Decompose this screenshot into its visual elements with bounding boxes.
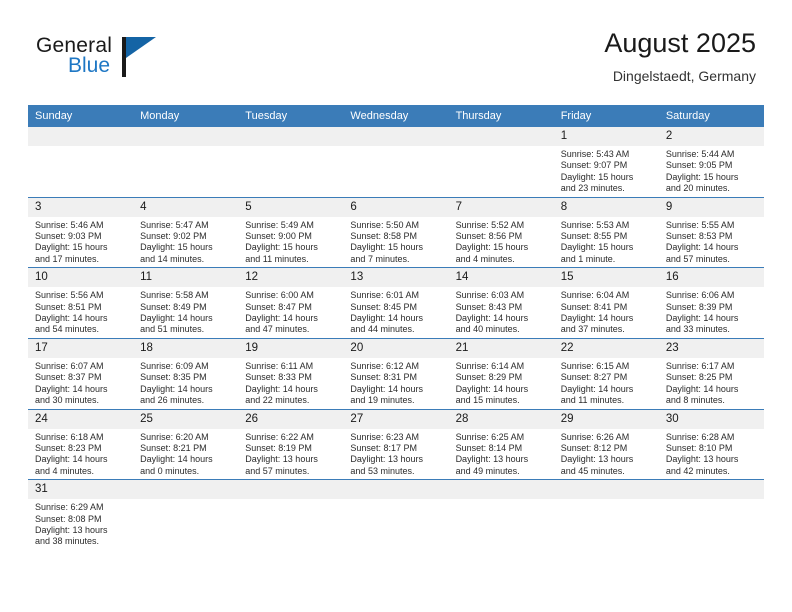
weekday-header-wednesday: Wednesday xyxy=(343,105,448,127)
day-sunset-line: Sunset: 8:12 PM xyxy=(561,443,655,454)
day-number: 5 xyxy=(238,198,343,217)
calendar-day-cell[interactable]: 28Sunrise: 6:25 AMSunset: 8:14 PMDayligh… xyxy=(449,409,554,480)
title-block: August 2025 Dingelstaedt, Germany xyxy=(604,26,756,86)
calendar-day-cell[interactable]: 30Sunrise: 6:28 AMSunset: 8:10 PMDayligh… xyxy=(659,409,764,480)
day-sun-info: Sunrise: 6:12 AMSunset: 8:31 PMDaylight:… xyxy=(343,358,448,409)
day-daylight-line: Daylight: 14 hours xyxy=(666,313,760,324)
day-daylight-line: Daylight: 14 hours xyxy=(140,313,234,324)
day-number: 19 xyxy=(238,339,343,358)
day-number: 7 xyxy=(449,198,554,217)
day-number xyxy=(133,127,238,146)
day-sunrise-line: Sunrise: 6:14 AM xyxy=(456,361,550,372)
day-daylight-line: Daylight: 14 hours xyxy=(456,384,550,395)
day-daylight-line: Daylight: 14 hours xyxy=(140,384,234,395)
day-daylight-line: Daylight: 14 hours xyxy=(350,384,444,395)
day-number: 30 xyxy=(659,410,764,429)
day-daylight-line: Daylight: 15 hours xyxy=(561,242,655,253)
calendar-week-row: 31Sunrise: 6:29 AMSunset: 8:08 PMDayligh… xyxy=(28,480,764,550)
brand-word-blue: Blue xyxy=(68,54,110,78)
day-daylight-line: Daylight: 15 hours xyxy=(245,242,339,253)
triangle-flag-icon xyxy=(126,37,156,58)
day-sunset-line: Sunset: 8:19 PM xyxy=(245,443,339,454)
day-sun-info: Sunrise: 6:07 AMSunset: 8:37 PMDaylight:… xyxy=(28,358,133,409)
day-daylight-line: and 42 minutes. xyxy=(666,466,760,477)
calendar-day-cell-empty xyxy=(449,127,554,197)
day-number: 12 xyxy=(238,268,343,287)
day-daylight-line: and 49 minutes. xyxy=(456,466,550,477)
day-sunset-line: Sunset: 8:17 PM xyxy=(350,443,444,454)
day-daylight-line: and 26 minutes. xyxy=(140,395,234,406)
day-sun-info: Sunrise: 6:28 AMSunset: 8:10 PMDaylight:… xyxy=(659,429,764,480)
day-number xyxy=(238,480,343,499)
day-daylight-line: and 47 minutes. xyxy=(245,324,339,335)
calendar-day-cell[interactable]: 4Sunrise: 5:47 AMSunset: 9:02 PMDaylight… xyxy=(133,197,238,268)
day-daylight-line: Daylight: 13 hours xyxy=(561,454,655,465)
day-sun-info: Sunrise: 6:29 AMSunset: 8:08 PMDaylight:… xyxy=(28,499,133,550)
weekday-header-monday: Monday xyxy=(133,105,238,127)
day-number: 20 xyxy=(343,339,448,358)
day-number: 25 xyxy=(133,410,238,429)
day-number: 31 xyxy=(28,480,133,499)
day-sunrise-line: Sunrise: 6:29 AM xyxy=(35,502,129,513)
general-blue-logo[interactable]: General Blue xyxy=(36,34,236,90)
day-sunset-line: Sunset: 8:39 PM xyxy=(666,302,760,313)
day-sunset-line: Sunset: 9:02 PM xyxy=(140,231,234,242)
calendar-day-cell[interactable]: 15Sunrise: 6:04 AMSunset: 8:41 PMDayligh… xyxy=(554,268,659,339)
day-daylight-line: and 11 minutes. xyxy=(245,254,339,265)
day-sunset-line: Sunset: 8:41 PM xyxy=(561,302,655,313)
day-daylight-line: Daylight: 14 hours xyxy=(245,384,339,395)
day-daylight-line: and 22 minutes. xyxy=(245,395,339,406)
day-daylight-line: and 45 minutes. xyxy=(561,466,655,477)
day-sunset-line: Sunset: 8:29 PM xyxy=(456,372,550,383)
day-sun-info: Sunrise: 5:47 AMSunset: 9:02 PMDaylight:… xyxy=(133,217,238,268)
day-sun-info xyxy=(659,499,764,504)
day-sunrise-line: Sunrise: 6:03 AM xyxy=(456,290,550,301)
day-daylight-line: and 30 minutes. xyxy=(35,395,129,406)
day-sunset-line: Sunset: 8:10 PM xyxy=(666,443,760,454)
day-daylight-line: and 20 minutes. xyxy=(666,183,760,194)
calendar-day-cell[interactable]: 23Sunrise: 6:17 AMSunset: 8:25 PMDayligh… xyxy=(659,338,764,409)
day-sun-info xyxy=(133,499,238,504)
day-number xyxy=(343,480,448,499)
day-sun-info xyxy=(238,146,343,151)
day-sunset-line: Sunset: 8:31 PM xyxy=(350,372,444,383)
day-number: 23 xyxy=(659,339,764,358)
day-sun-info xyxy=(449,499,554,504)
calendar-week-row: 10Sunrise: 5:56 AMSunset: 8:51 PMDayligh… xyxy=(28,268,764,339)
day-sunset-line: Sunset: 9:03 PM xyxy=(35,231,129,242)
calendar-day-cell[interactable]: 3Sunrise: 5:46 AMSunset: 9:03 PMDaylight… xyxy=(28,197,133,268)
calendar-body: 1Sunrise: 5:43 AMSunset: 9:07 PMDaylight… xyxy=(28,127,764,550)
day-sunrise-line: Sunrise: 5:46 AM xyxy=(35,220,129,231)
day-sunrise-line: Sunrise: 6:01 AM xyxy=(350,290,444,301)
day-daylight-line: and 38 minutes. xyxy=(35,536,129,547)
day-sun-info: Sunrise: 5:52 AMSunset: 8:56 PMDaylight:… xyxy=(449,217,554,268)
calendar-day-cell[interactable]: 13Sunrise: 6:01 AMSunset: 8:45 PMDayligh… xyxy=(343,268,448,339)
day-sunset-line: Sunset: 8:53 PM xyxy=(666,231,760,242)
day-sun-info: Sunrise: 6:22 AMSunset: 8:19 PMDaylight:… xyxy=(238,429,343,480)
weekday-header-sunday: Sunday xyxy=(28,105,133,127)
day-daylight-line: Daylight: 14 hours xyxy=(350,313,444,324)
calendar-day-cell-empty xyxy=(133,480,238,550)
day-sun-info: Sunrise: 5:43 AMSunset: 9:07 PMDaylight:… xyxy=(554,146,659,197)
day-number xyxy=(449,127,554,146)
day-sunrise-line: Sunrise: 6:09 AM xyxy=(140,361,234,372)
calendar-day-cell[interactable]: 14Sunrise: 6:03 AMSunset: 8:43 PMDayligh… xyxy=(449,268,554,339)
day-sun-info: Sunrise: 6:04 AMSunset: 8:41 PMDaylight:… xyxy=(554,287,659,338)
day-sunrise-line: Sunrise: 5:58 AM xyxy=(140,290,234,301)
day-sun-info: Sunrise: 6:14 AMSunset: 8:29 PMDaylight:… xyxy=(449,358,554,409)
calendar-day-cell[interactable]: 16Sunrise: 6:06 AMSunset: 8:39 PMDayligh… xyxy=(659,268,764,339)
day-sun-info: Sunrise: 5:53 AMSunset: 8:55 PMDaylight:… xyxy=(554,217,659,268)
day-daylight-line: Daylight: 15 hours xyxy=(456,242,550,253)
day-daylight-line: and 54 minutes. xyxy=(35,324,129,335)
day-sun-info: Sunrise: 6:09 AMSunset: 8:35 PMDaylight:… xyxy=(133,358,238,409)
day-daylight-line: Daylight: 14 hours xyxy=(35,384,129,395)
day-number: 16 xyxy=(659,268,764,287)
day-sun-info: Sunrise: 6:23 AMSunset: 8:17 PMDaylight:… xyxy=(343,429,448,480)
day-number xyxy=(28,127,133,146)
day-sunset-line: Sunset: 8:58 PM xyxy=(350,231,444,242)
day-daylight-line: Daylight: 14 hours xyxy=(35,454,129,465)
sunrise-sunset-calendar: Sunday Monday Tuesday Wednesday Thursday… xyxy=(28,105,764,550)
day-sunrise-line: Sunrise: 5:43 AM xyxy=(561,149,655,160)
day-number: 26 xyxy=(238,410,343,429)
day-daylight-line: Daylight: 15 hours xyxy=(666,172,760,183)
day-daylight-line: and 23 minutes. xyxy=(561,183,655,194)
calendar-day-cell[interactable]: 18Sunrise: 6:09 AMSunset: 8:35 PMDayligh… xyxy=(133,338,238,409)
day-sun-info xyxy=(449,146,554,151)
day-sun-info: Sunrise: 6:06 AMSunset: 8:39 PMDaylight:… xyxy=(659,287,764,338)
weekday-header-saturday: Saturday xyxy=(659,105,764,127)
day-daylight-line: and 57 minutes. xyxy=(666,254,760,265)
day-sun-info: Sunrise: 6:03 AMSunset: 8:43 PMDaylight:… xyxy=(449,287,554,338)
day-number: 10 xyxy=(28,268,133,287)
weekday-header-row: Sunday Monday Tuesday Wednesday Thursday… xyxy=(28,105,764,127)
day-daylight-line: and 11 minutes. xyxy=(561,395,655,406)
calendar-week-row: 17Sunrise: 6:07 AMSunset: 8:37 PMDayligh… xyxy=(28,338,764,409)
day-sunrise-line: Sunrise: 6:04 AM xyxy=(561,290,655,301)
day-daylight-line: Daylight: 15 hours xyxy=(350,242,444,253)
day-sun-info: Sunrise: 5:55 AMSunset: 8:53 PMDaylight:… xyxy=(659,217,764,268)
calendar-day-cell-empty xyxy=(238,127,343,197)
calendar-day-cell[interactable]: 25Sunrise: 6:20 AMSunset: 8:21 PMDayligh… xyxy=(133,409,238,480)
day-number: 2 xyxy=(659,127,764,146)
calendar-day-cell-empty xyxy=(449,480,554,550)
day-sun-info: Sunrise: 6:15 AMSunset: 8:27 PMDaylight:… xyxy=(554,358,659,409)
calendar-day-cell[interactable]: 21Sunrise: 6:14 AMSunset: 8:29 PMDayligh… xyxy=(449,338,554,409)
day-daylight-line: Daylight: 14 hours xyxy=(140,454,234,465)
day-daylight-line: and 7 minutes. xyxy=(350,254,444,265)
page-header: General Blue August 2025 Dingelstaedt, G… xyxy=(28,26,764,96)
day-sun-info xyxy=(343,146,448,151)
day-sun-info xyxy=(554,499,659,504)
calendar-day-cell[interactable]: 5Sunrise: 5:49 AMSunset: 9:00 PMDaylight… xyxy=(238,197,343,268)
day-daylight-line: and 1 minute. xyxy=(561,254,655,265)
calendar-day-cell[interactable]: 20Sunrise: 6:12 AMSunset: 8:31 PMDayligh… xyxy=(343,338,448,409)
calendar-week-row: 3Sunrise: 5:46 AMSunset: 9:03 PMDaylight… xyxy=(28,197,764,268)
day-daylight-line: Daylight: 14 hours xyxy=(35,313,129,324)
day-daylight-line: Daylight: 13 hours xyxy=(456,454,550,465)
day-sun-info: Sunrise: 5:50 AMSunset: 8:58 PMDaylight:… xyxy=(343,217,448,268)
day-daylight-line: and 19 minutes. xyxy=(350,395,444,406)
day-daylight-line: and 14 minutes. xyxy=(140,254,234,265)
day-sun-info: Sunrise: 6:00 AMSunset: 8:47 PMDaylight:… xyxy=(238,287,343,338)
day-number: 18 xyxy=(133,339,238,358)
day-daylight-line: and 33 minutes. xyxy=(666,324,760,335)
day-sun-info: Sunrise: 6:18 AMSunset: 8:23 PMDaylight:… xyxy=(28,429,133,480)
calendar-day-cell[interactable]: 8Sunrise: 5:53 AMSunset: 8:55 PMDaylight… xyxy=(554,197,659,268)
day-sun-info: Sunrise: 5:56 AMSunset: 8:51 PMDaylight:… xyxy=(28,287,133,338)
day-sunrise-line: Sunrise: 6:20 AM xyxy=(140,432,234,443)
day-daylight-line: and 44 minutes. xyxy=(350,324,444,335)
page-title: August 2025 xyxy=(604,26,756,60)
day-sunrise-line: Sunrise: 6:11 AM xyxy=(245,361,339,372)
day-sunset-line: Sunset: 8:55 PM xyxy=(561,231,655,242)
day-number xyxy=(343,127,448,146)
calendar-day-cell[interactable]: 1Sunrise: 5:43 AMSunset: 9:07 PMDaylight… xyxy=(554,127,659,197)
day-number: 28 xyxy=(449,410,554,429)
day-daylight-line: and 57 minutes. xyxy=(245,466,339,477)
day-number: 27 xyxy=(343,410,448,429)
weekday-header-tuesday: Tuesday xyxy=(238,105,343,127)
day-daylight-line: Daylight: 14 hours xyxy=(666,384,760,395)
calendar-day-cell[interactable]: 19Sunrise: 6:11 AMSunset: 8:33 PMDayligh… xyxy=(238,338,343,409)
day-number xyxy=(554,480,659,499)
day-daylight-line: Daylight: 14 hours xyxy=(245,313,339,324)
day-sunrise-line: Sunrise: 5:44 AM xyxy=(666,149,760,160)
day-sunrise-line: Sunrise: 6:26 AM xyxy=(561,432,655,443)
day-number: 29 xyxy=(554,410,659,429)
day-number: 24 xyxy=(28,410,133,429)
calendar-day-cell-empty xyxy=(28,127,133,197)
day-number: 1 xyxy=(554,127,659,146)
day-sun-info: Sunrise: 6:26 AMSunset: 8:12 PMDaylight:… xyxy=(554,429,659,480)
day-sun-info: Sunrise: 6:25 AMSunset: 8:14 PMDaylight:… xyxy=(449,429,554,480)
day-sunset-line: Sunset: 8:51 PM xyxy=(35,302,129,313)
calendar-day-cell[interactable]: 17Sunrise: 6:07 AMSunset: 8:37 PMDayligh… xyxy=(28,338,133,409)
day-number: 21 xyxy=(449,339,554,358)
day-sunset-line: Sunset: 8:49 PM xyxy=(140,302,234,313)
calendar-page: General Blue August 2025 Dingelstaedt, G… xyxy=(0,0,792,612)
day-sunset-line: Sunset: 8:45 PM xyxy=(350,302,444,313)
day-sun-info xyxy=(28,146,133,151)
calendar-week-row: 24Sunrise: 6:18 AMSunset: 8:23 PMDayligh… xyxy=(28,409,764,480)
day-sunrise-line: Sunrise: 5:49 AM xyxy=(245,220,339,231)
day-sunset-line: Sunset: 8:23 PM xyxy=(35,443,129,454)
weekday-header-friday: Friday xyxy=(554,105,659,127)
calendar-day-cell[interactable]: 31Sunrise: 6:29 AMSunset: 8:08 PMDayligh… xyxy=(28,480,133,550)
day-number xyxy=(659,480,764,499)
calendar-day-cell[interactable]: 27Sunrise: 6:23 AMSunset: 8:17 PMDayligh… xyxy=(343,409,448,480)
day-daylight-line: and 4 minutes. xyxy=(35,466,129,477)
calendar-day-cell[interactable]: 6Sunrise: 5:50 AMSunset: 8:58 PMDaylight… xyxy=(343,197,448,268)
day-daylight-line: Daylight: 13 hours xyxy=(666,454,760,465)
day-sun-info: Sunrise: 5:46 AMSunset: 9:03 PMDaylight:… xyxy=(28,217,133,268)
calendar-day-cell-empty xyxy=(343,480,448,550)
day-sun-info xyxy=(238,499,343,504)
day-sunrise-line: Sunrise: 6:00 AM xyxy=(245,290,339,301)
day-number: 14 xyxy=(449,268,554,287)
day-number: 8 xyxy=(554,198,659,217)
day-sunset-line: Sunset: 8:27 PM xyxy=(561,372,655,383)
calendar-day-cell-empty xyxy=(659,480,764,550)
day-sun-info: Sunrise: 6:11 AMSunset: 8:33 PMDaylight:… xyxy=(238,358,343,409)
day-number: 17 xyxy=(28,339,133,358)
day-daylight-line: and 37 minutes. xyxy=(561,324,655,335)
day-sunset-line: Sunset: 8:47 PM xyxy=(245,302,339,313)
calendar-day-cell-empty xyxy=(343,127,448,197)
day-sunrise-line: Sunrise: 5:50 AM xyxy=(350,220,444,231)
day-sun-info xyxy=(343,499,448,504)
calendar-day-cell[interactable]: 10Sunrise: 5:56 AMSunset: 8:51 PMDayligh… xyxy=(28,268,133,339)
day-daylight-line: Daylight: 13 hours xyxy=(35,525,129,536)
day-daylight-line: and 40 minutes. xyxy=(456,324,550,335)
location-subtitle: Dingelstaedt, Germany xyxy=(604,66,756,86)
day-daylight-line: Daylight: 14 hours xyxy=(666,242,760,253)
weekday-header-thursday: Thursday xyxy=(449,105,554,127)
day-daylight-line: Daylight: 14 hours xyxy=(561,313,655,324)
day-sunset-line: Sunset: 8:21 PM xyxy=(140,443,234,454)
day-sunset-line: Sunset: 8:33 PM xyxy=(245,372,339,383)
day-sun-info: Sunrise: 6:20 AMSunset: 8:21 PMDaylight:… xyxy=(133,429,238,480)
day-number: 13 xyxy=(343,268,448,287)
day-sunset-line: Sunset: 9:05 PM xyxy=(666,160,760,171)
day-sunset-line: Sunset: 8:25 PM xyxy=(666,372,760,383)
day-number: 11 xyxy=(133,268,238,287)
day-sunset-line: Sunset: 8:37 PM xyxy=(35,372,129,383)
day-sunset-line: Sunset: 8:35 PM xyxy=(140,372,234,383)
calendar-day-cell-empty xyxy=(133,127,238,197)
calendar-day-cell[interactable]: 24Sunrise: 6:18 AMSunset: 8:23 PMDayligh… xyxy=(28,409,133,480)
day-daylight-line: and 15 minutes. xyxy=(456,395,550,406)
day-sunrise-line: Sunrise: 6:18 AM xyxy=(35,432,129,443)
day-daylight-line: Daylight: 14 hours xyxy=(456,313,550,324)
day-sunset-line: Sunset: 8:08 PM xyxy=(35,514,129,525)
calendar-day-cell[interactable]: 11Sunrise: 5:58 AMSunset: 8:49 PMDayligh… xyxy=(133,268,238,339)
day-daylight-line: and 8 minutes. xyxy=(666,395,760,406)
day-sunset-line: Sunset: 8:56 PM xyxy=(456,231,550,242)
calendar-day-cell-empty xyxy=(238,480,343,550)
day-sunset-line: Sunset: 9:07 PM xyxy=(561,160,655,171)
day-sunrise-line: Sunrise: 5:55 AM xyxy=(666,220,760,231)
day-number: 4 xyxy=(133,198,238,217)
calendar-day-cell[interactable]: 7Sunrise: 5:52 AMSunset: 8:56 PMDaylight… xyxy=(449,197,554,268)
day-number xyxy=(449,480,554,499)
day-sunrise-line: Sunrise: 6:12 AM xyxy=(350,361,444,372)
day-sun-info: Sunrise: 6:01 AMSunset: 8:45 PMDaylight:… xyxy=(343,287,448,338)
day-sunrise-line: Sunrise: 6:06 AM xyxy=(666,290,760,301)
day-number xyxy=(133,480,238,499)
day-sunrise-line: Sunrise: 6:23 AM xyxy=(350,432,444,443)
day-number: 6 xyxy=(343,198,448,217)
day-daylight-line: Daylight: 15 hours xyxy=(561,172,655,183)
day-daylight-line: and 17 minutes. xyxy=(35,254,129,265)
day-sunset-line: Sunset: 9:00 PM xyxy=(245,231,339,242)
calendar-day-cell[interactable]: 9Sunrise: 5:55 AMSunset: 8:53 PMDaylight… xyxy=(659,197,764,268)
calendar-day-cell-empty xyxy=(554,480,659,550)
day-daylight-line: and 51 minutes. xyxy=(140,324,234,335)
day-daylight-line: Daylight: 15 hours xyxy=(35,242,129,253)
calendar-day-cell[interactable]: 22Sunrise: 6:15 AMSunset: 8:27 PMDayligh… xyxy=(554,338,659,409)
day-daylight-line: and 53 minutes. xyxy=(350,466,444,477)
day-sunrise-line: Sunrise: 5:47 AM xyxy=(140,220,234,231)
day-sunrise-line: Sunrise: 6:07 AM xyxy=(35,361,129,372)
day-sunrise-line: Sunrise: 5:53 AM xyxy=(561,220,655,231)
day-sun-info: Sunrise: 5:58 AMSunset: 8:49 PMDaylight:… xyxy=(133,287,238,338)
calendar-day-cell[interactable]: 26Sunrise: 6:22 AMSunset: 8:19 PMDayligh… xyxy=(238,409,343,480)
day-sunrise-line: Sunrise: 6:28 AM xyxy=(666,432,760,443)
day-daylight-line: Daylight: 13 hours xyxy=(245,454,339,465)
calendar-week-row: 1Sunrise: 5:43 AMSunset: 9:07 PMDaylight… xyxy=(28,127,764,197)
day-number xyxy=(238,127,343,146)
day-sunrise-line: Sunrise: 6:22 AM xyxy=(245,432,339,443)
day-sunrise-line: Sunrise: 6:15 AM xyxy=(561,361,655,372)
day-sunrise-line: Sunrise: 5:56 AM xyxy=(35,290,129,301)
calendar-day-cell[interactable]: 2Sunrise: 5:44 AMSunset: 9:05 PMDaylight… xyxy=(659,127,764,197)
day-sunrise-line: Sunrise: 5:52 AM xyxy=(456,220,550,231)
day-number: 3 xyxy=(28,198,133,217)
calendar-day-cell[interactable]: 29Sunrise: 6:26 AMSunset: 8:12 PMDayligh… xyxy=(554,409,659,480)
day-daylight-line: Daylight: 14 hours xyxy=(561,384,655,395)
calendar-day-cell[interactable]: 12Sunrise: 6:00 AMSunset: 8:47 PMDayligh… xyxy=(238,268,343,339)
day-number: 9 xyxy=(659,198,764,217)
day-daylight-line: and 4 minutes. xyxy=(456,254,550,265)
day-daylight-line: Daylight: 15 hours xyxy=(140,242,234,253)
day-sunrise-line: Sunrise: 6:17 AM xyxy=(666,361,760,372)
day-sun-info: Sunrise: 5:44 AMSunset: 9:05 PMDaylight:… xyxy=(659,146,764,197)
day-daylight-line: Daylight: 13 hours xyxy=(350,454,444,465)
day-sunrise-line: Sunrise: 6:25 AM xyxy=(456,432,550,443)
day-sun-info: Sunrise: 6:17 AMSunset: 8:25 PMDaylight:… xyxy=(659,358,764,409)
day-number: 15 xyxy=(554,268,659,287)
day-sunset-line: Sunset: 8:14 PM xyxy=(456,443,550,454)
day-number: 22 xyxy=(554,339,659,358)
day-sun-info: Sunrise: 5:49 AMSunset: 9:00 PMDaylight:… xyxy=(238,217,343,268)
day-daylight-line: and 0 minutes. xyxy=(140,466,234,477)
day-sunset-line: Sunset: 8:43 PM xyxy=(456,302,550,313)
day-sun-info xyxy=(133,146,238,151)
